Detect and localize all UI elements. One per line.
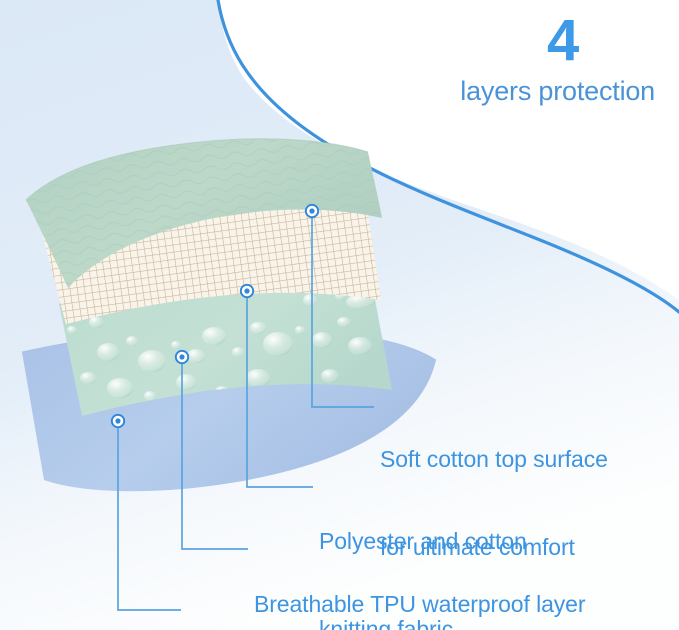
callout-label-non-slip-leakproof-backing: Non slip leakproof backing bbox=[187, 592, 454, 630]
product-infographic: 4 layers protection Soft cotton top surf… bbox=[0, 0, 679, 630]
headline-subtitle: layers protection bbox=[460, 76, 655, 107]
callout-dot-nonslip bbox=[112, 415, 124, 427]
callout-dot-polyester bbox=[241, 285, 253, 297]
callout-dot-tpu bbox=[176, 351, 188, 363]
callout-dot-soft-cotton bbox=[306, 205, 318, 217]
headline-number: 4 bbox=[547, 12, 579, 70]
